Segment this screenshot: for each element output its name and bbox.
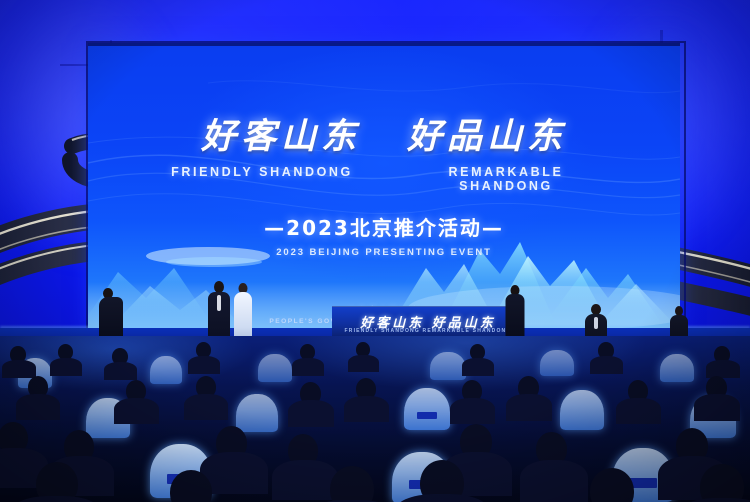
staff-left-body — [99, 297, 123, 341]
audience-member — [272, 460, 338, 500]
audience-seating-area — [0, 336, 750, 502]
event-stage-photo: 好客山东 好品山东 FRIENDLY SHANDONG REMARKABLE S… — [0, 0, 750, 502]
audience-member — [104, 362, 137, 380]
chair-cover — [540, 350, 574, 376]
podium-banner-english: FRIENDLY SHANDONG REMARKABLE SHANDONG — [332, 328, 524, 334]
audience-member — [462, 358, 494, 376]
audience-member — [616, 398, 661, 424]
attendant-right-shirt — [594, 317, 598, 329]
stage-person-speaker-lectern — [503, 285, 527, 340]
chair-cover — [430, 352, 466, 380]
audience-member — [506, 394, 552, 421]
audience-member — [344, 396, 389, 422]
audience-member — [188, 356, 220, 374]
audience-member — [450, 398, 495, 424]
speaker-body — [506, 294, 525, 341]
audience-member — [114, 398, 159, 424]
audience-member-foreground — [700, 464, 744, 502]
audience-member — [590, 356, 623, 374]
host-male-shirt — [217, 295, 221, 311]
led-backdrop-screen: 好客山东 好品山东 FRIENDLY SHANDONG REMARKABLE S… — [88, 43, 680, 330]
audience-member — [16, 394, 60, 420]
audience-member — [292, 358, 324, 376]
chair-cover — [404, 388, 450, 430]
chair-cover — [236, 394, 278, 432]
audience-member — [184, 394, 228, 420]
stage-person-host-male — [206, 281, 232, 341]
chair-cover — [150, 356, 182, 384]
audience-member — [706, 360, 740, 378]
audience-member — [348, 355, 379, 372]
audience-member — [50, 358, 82, 376]
chair-cover — [258, 354, 292, 382]
host-female-dress — [234, 292, 252, 342]
stage-person-host-female — [230, 283, 256, 341]
audience-member — [2, 360, 36, 378]
stage-person-staff-left — [96, 288, 126, 340]
audience-member — [288, 400, 334, 427]
chair-cover — [660, 354, 694, 382]
audience-member — [520, 460, 588, 502]
chair-cover — [560, 390, 604, 430]
chair-seat-tag — [417, 412, 437, 419]
podium-banner: 好客山东 好品山东 FRIENDLY SHANDONG REMARKABLE S… — [332, 306, 524, 339]
audience-member — [694, 394, 740, 421]
